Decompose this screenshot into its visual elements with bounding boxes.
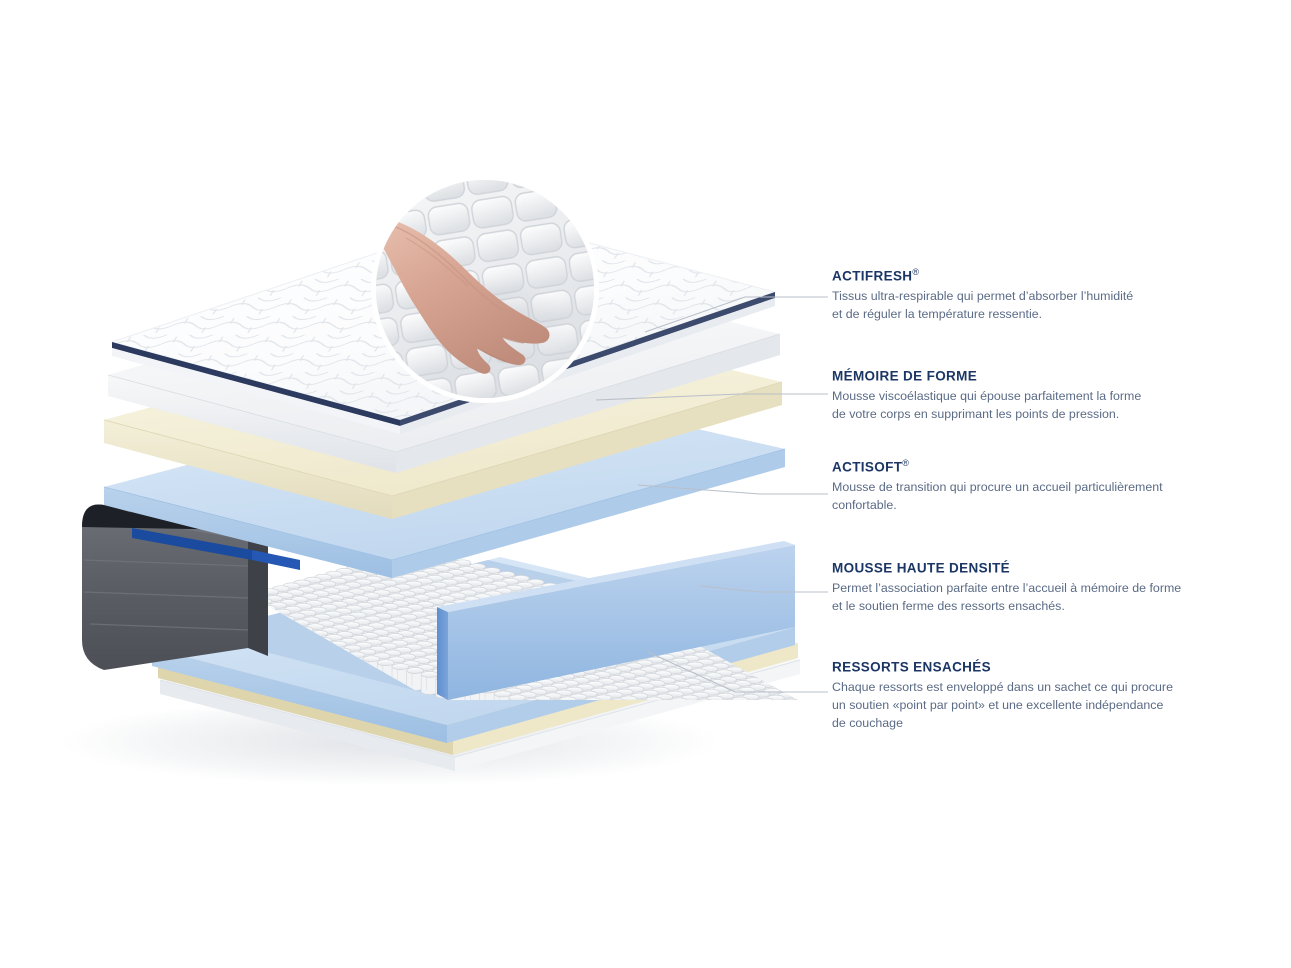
pocket-spring	[746, 701, 763, 724]
registered-mark-icon: ®	[902, 458, 909, 468]
callout-body-actisoft: Mousse de transition qui procure un accu…	[832, 479, 1232, 514]
pocket-spring	[761, 705, 778, 728]
callout-body-mousse-haute-densite: Permet l’association parfaite entre l’ac…	[832, 580, 1252, 615]
pocket-spring	[786, 706, 803, 729]
hand-on-quilted-surface-image	[376, 180, 594, 398]
pocket-spring	[750, 708, 767, 731]
diagram-canvas: ACTIFRESH® Tissus ultra-respirable qui p…	[0, 0, 1291, 968]
pocket-spring	[725, 707, 742, 730]
callout-ressorts-ensaches: RESSORTS ENSACHÉS Chaque ressorts est en…	[832, 659, 1252, 732]
callout-title-ressorts-ensaches: RESSORTS ENSACHÉS	[832, 659, 1252, 675]
pocket-spring	[700, 706, 717, 729]
mattress-layers-svg	[0, 0, 830, 800]
pocket-spring	[785, 683, 802, 706]
pocket-spring	[732, 697, 749, 720]
pocket-spring	[798, 663, 815, 686]
pocket-spring	[771, 702, 788, 725]
pocket-spring	[718, 716, 735, 739]
pocket-spring	[779, 716, 796, 739]
pocket-spring	[801, 710, 818, 733]
callout-title-memoire-de-forme: MÉMOIRE DE FORME	[832, 368, 1232, 384]
callout-actifresh: ACTIFRESH® Tissus ultra-respirable qui p…	[832, 268, 1232, 324]
pocket-spring	[740, 711, 757, 734]
pocket-spring	[782, 699, 799, 722]
hand-pressing-inset	[376, 180, 594, 398]
pocket-spring	[757, 698, 774, 721]
pocket-spring	[714, 710, 731, 733]
pocket-spring	[790, 713, 807, 736]
callout-title-actifresh: ACTIFRESH®	[832, 268, 1232, 284]
callout-mousse-haute-densite: MOUSSE HAUTE DENSITÉ Permet l’associatio…	[832, 560, 1252, 616]
callout-body-ressorts-ensaches: Chaque ressorts est enveloppé dans un sa…	[832, 679, 1252, 732]
pocket-spring	[754, 715, 771, 738]
pocket-spring	[791, 673, 808, 696]
callout-memoire-de-forme: MÉMOIRE DE FORME Mousse viscoélastique q…	[832, 368, 1232, 424]
pocket-spring	[765, 712, 782, 735]
pocket-spring	[736, 704, 753, 727]
registered-mark-icon: ®	[912, 267, 919, 277]
exploded-mattress-illustration	[0, 0, 830, 800]
pocket-spring	[775, 709, 792, 732]
pocket-spring	[795, 680, 812, 703]
callout-body-memoire-de-forme: Mousse viscoélastique qui épouse parfait…	[832, 388, 1232, 423]
pocket-spring	[799, 686, 816, 709]
pocket-spring	[789, 689, 806, 712]
callout-title-mousse-haute-densite: MOUSSE HAUTE DENSITÉ	[832, 560, 1252, 576]
callout-actisoft: ACTISOFT® Mousse de transition qui procu…	[832, 459, 1232, 515]
pocket-spring	[797, 703, 814, 726]
callout-body-actifresh: Tissus ultra-respirable qui permet d’abs…	[832, 288, 1232, 323]
pocket-spring	[721, 700, 738, 723]
callout-title-actisoft: ACTISOFT®	[832, 459, 1232, 475]
pocket-spring	[710, 703, 727, 726]
pocket-spring	[729, 714, 746, 737]
